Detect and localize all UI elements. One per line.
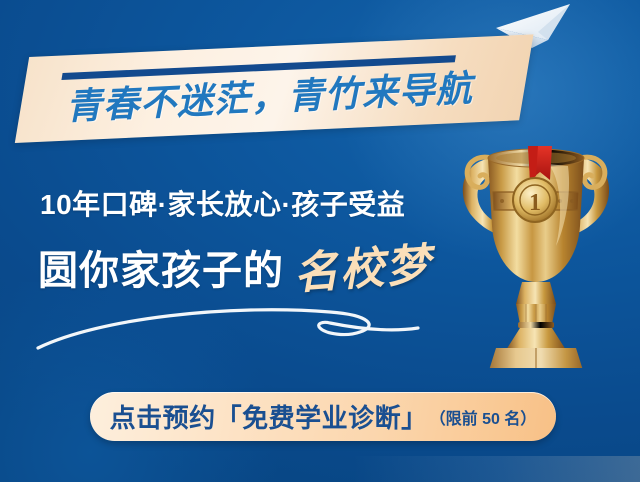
swoosh-underline-icon: [30, 292, 420, 356]
trophy-icon: 1: [430, 118, 630, 368]
cta-main-label: 点击预约「免费学业诊断」: [110, 398, 428, 435]
cta-button[interactable]: 点击预约「免费学业诊断」 （限前 50 名）: [90, 392, 556, 441]
promo-poster: 青春不迷茫，青竹来导航 10年口碑·家长放心·孩子受益 圆你家孩子的 名校梦: [0, 0, 640, 482]
dream-line: 圆你家孩子的 名校梦: [38, 248, 432, 292]
svg-text:1: 1: [529, 190, 541, 216]
dream-prefix: 圆你家孩子的: [38, 251, 284, 291]
benefits-line: 10年口碑·家长放心·孩子受益: [40, 191, 405, 219]
cta-note-label: （限前 50 名）: [430, 405, 537, 429]
bottom-light-band: [0, 456, 640, 482]
dream-highlight: 名校梦: [293, 243, 434, 297]
